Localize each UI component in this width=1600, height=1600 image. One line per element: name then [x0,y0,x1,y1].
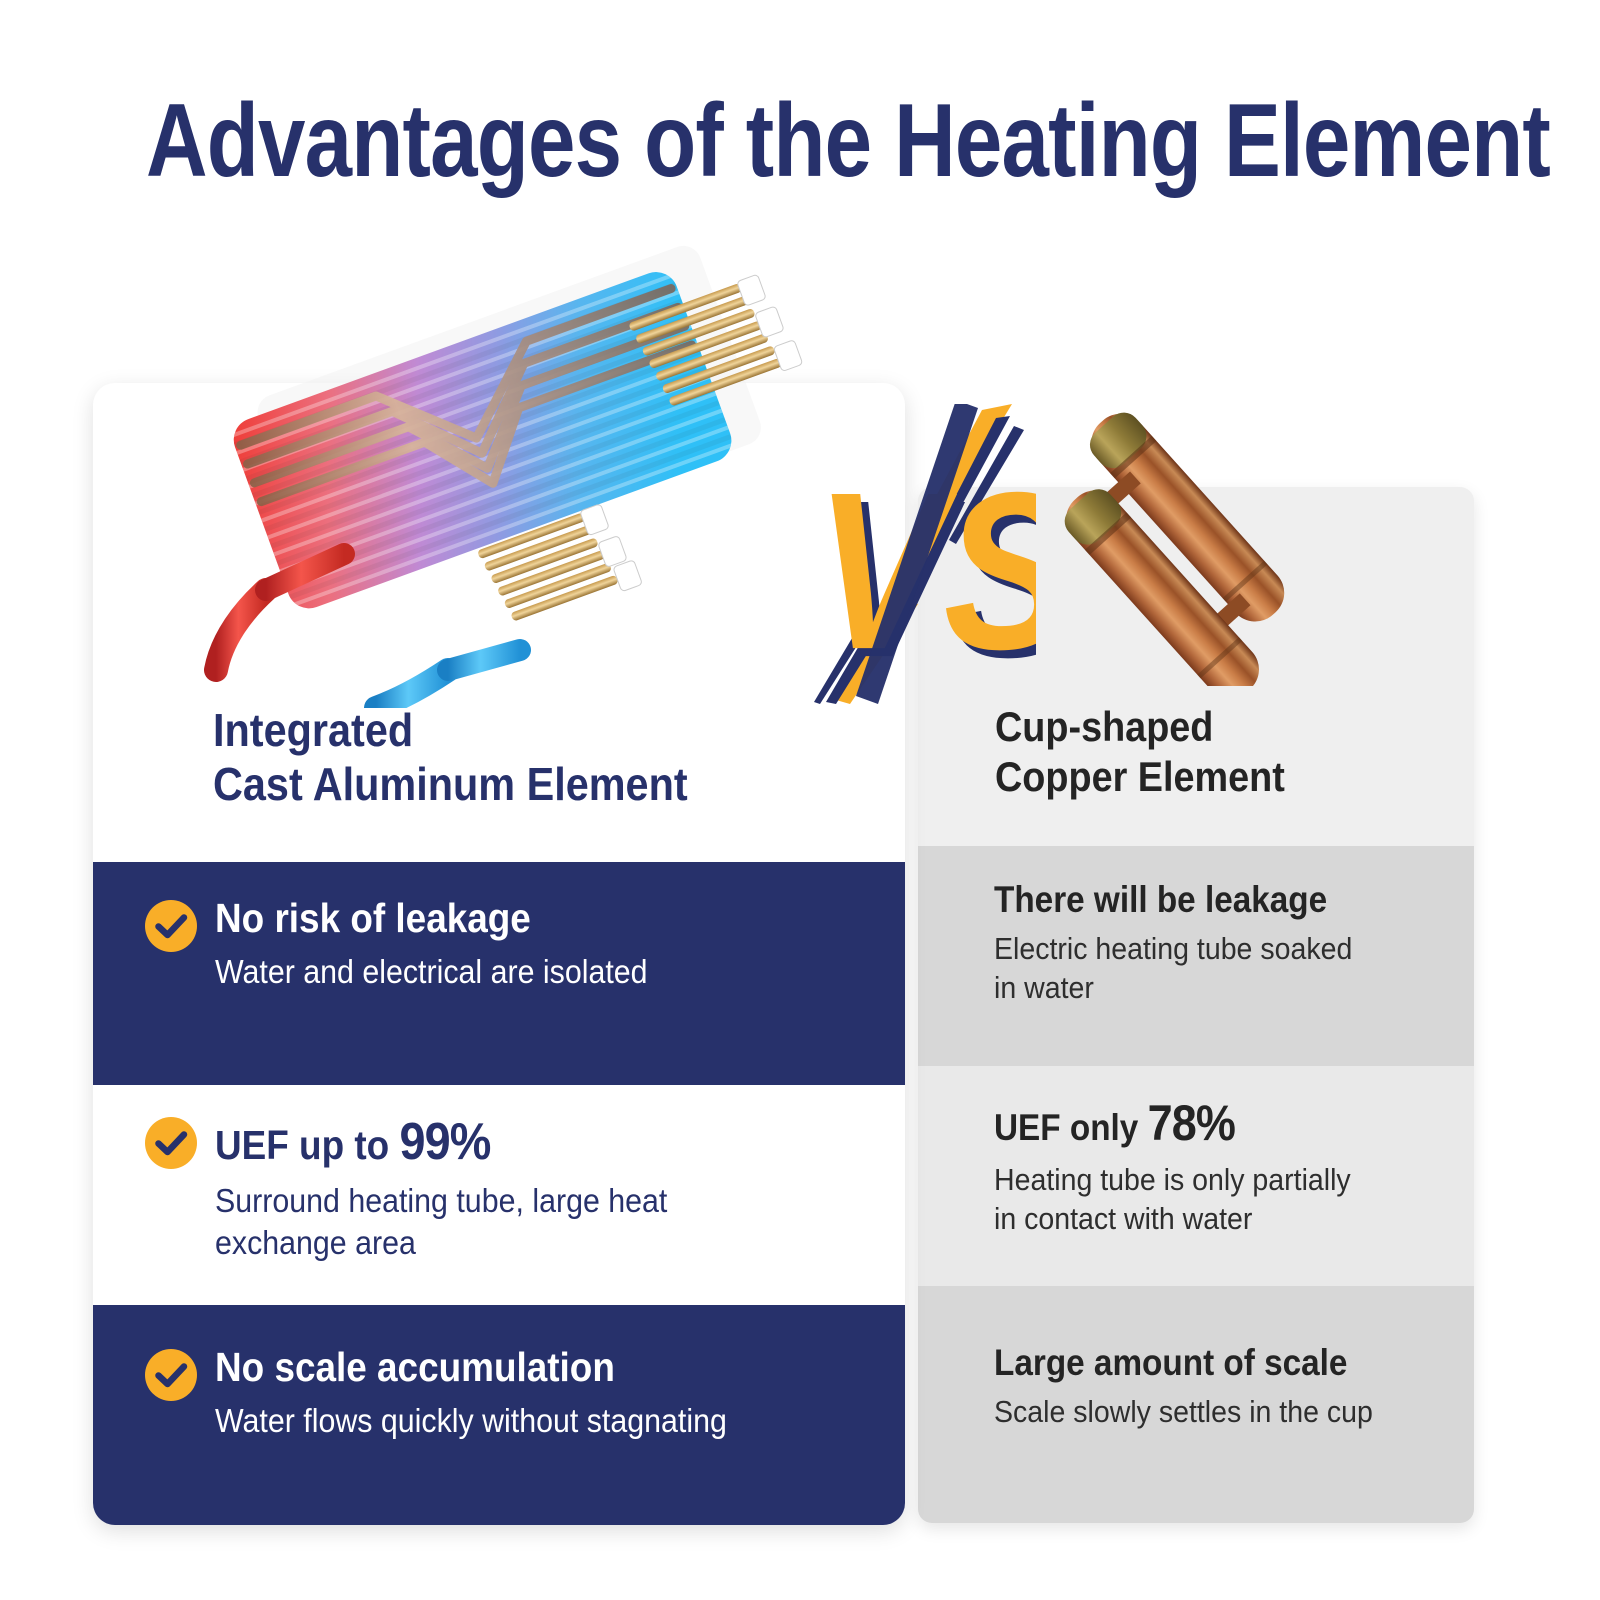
right-feature-item-3: Large amount of scale Scale slowly settl… [994,1342,1448,1431]
right-feature-title-2-value: 78% [1148,1095,1235,1151]
right-heading-line1: Cup-shaped [995,703,1213,750]
right-card-heading: Cup-shapedCopper Element [995,702,1409,801]
right-heading-line2: Copper Element [995,753,1285,800]
right-feature-desc-3: Scale slowly settles in the cup [994,1392,1412,1431]
left-feature-title-1: No risk of leakage [215,896,809,942]
left-heading-line2: Cast Aluminum Element [213,758,688,810]
left-feature-desc-1: Water and electrical are isolated [215,951,822,993]
left-feature-desc-2: Surround heating tube, large heat exchan… [215,1180,758,1263]
page-title: Advantages of the Heating Element [146,86,1228,196]
right-feature-item-2: UEF only 78% Heating tube is only partia… [994,1095,1448,1238]
right-feature-desc-1: Electric heating tube soaked in water [994,929,1412,1007]
right-feature-title-2-prefix: UEF only [994,1107,1148,1148]
check-circle-icon [145,1349,197,1401]
left-card-heading: IntegratedCast Aluminum Element [213,703,843,812]
vs-badge: VS VS [806,404,1036,704]
left-feature-title-2-value: 99% [399,1113,490,1171]
integrated-cast-aluminum-element-image [148,218,838,708]
left-feature-title-3: No scale accumulation [215,1345,809,1391]
left-heading-line1: Integrated [213,704,413,756]
cup-shaped-copper-element-image [1036,356,1386,686]
left-feature-item-3: No scale accumulation Water flows quickl… [145,1345,875,1441]
right-feature-title-3: Large amount of scale [994,1342,1403,1383]
right-feature-desc-2: Heating tube is only partially in contac… [994,1160,1412,1238]
check-circle-icon [145,1117,197,1169]
left-feature-title-2-prefix: UEF up to [215,1122,399,1168]
left-feature-item-1: No risk of leakage Water and electrical … [145,896,875,992]
left-feature-title-2: UEF up to 99% [215,1113,809,1171]
right-feature-item-1: There will be leakage Electric heating t… [994,879,1448,1008]
right-feature-title-1: There will be leakage [994,879,1403,920]
right-feature-title-2: UEF only 78% [994,1095,1403,1151]
left-feature-item-2: UEF up to 99% Surround heating tube, lar… [145,1113,875,1263]
infographic-root: Advantages of the Heating Element Cup-sh… [0,0,1600,1600]
left-feature-desc-3: Water flows quickly without stagnating [215,1400,822,1442]
check-circle-icon [145,900,197,952]
